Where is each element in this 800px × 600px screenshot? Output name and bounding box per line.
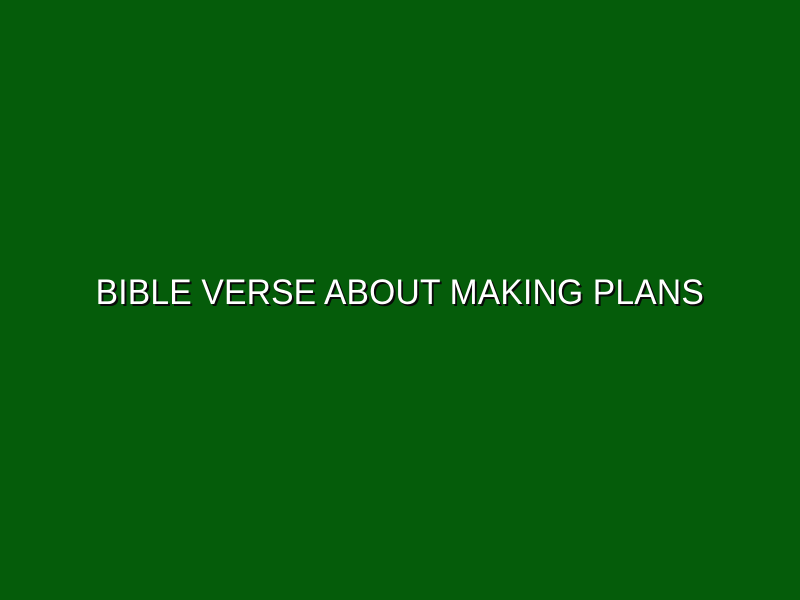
headline-container: BIBLE VERSE ABOUT MAKING PLANS bbox=[0, 0, 800, 586]
page-title: BIBLE VERSE ABOUT MAKING PLANS bbox=[96, 274, 704, 313]
title-banner: BIBLE VERSE ABOUT MAKING PLANS bbox=[0, 0, 800, 600]
